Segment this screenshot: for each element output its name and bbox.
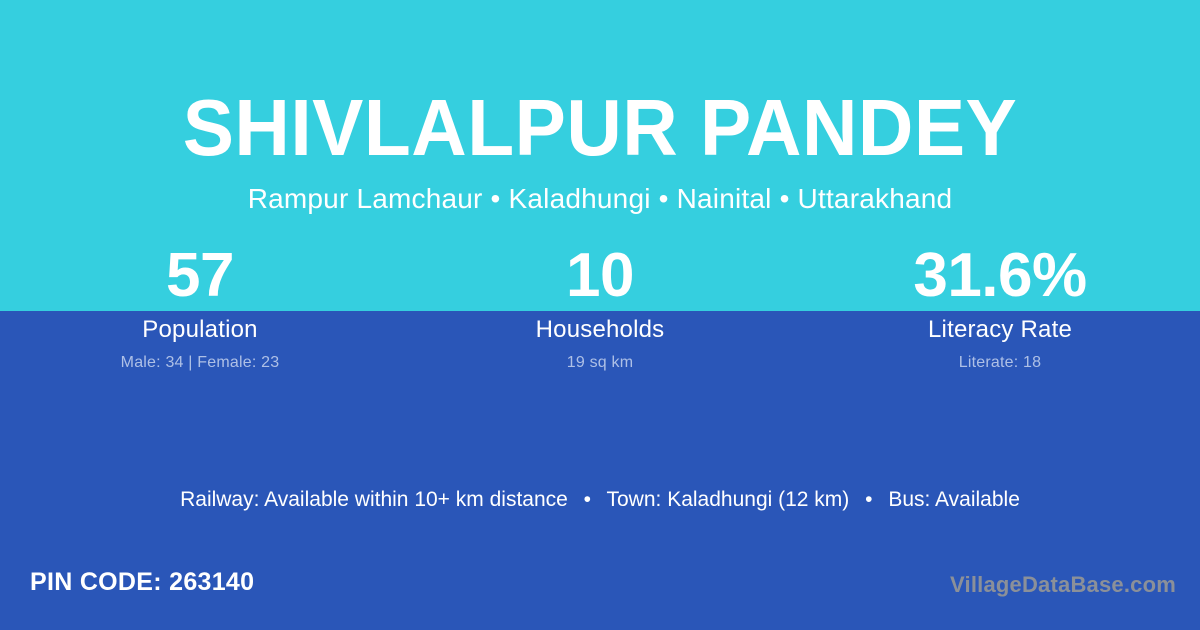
stat-label-literacy-rate: Literacy Rate <box>800 315 1200 345</box>
facility-railway: Railway: Available within 10+ km distanc… <box>180 488 568 511</box>
stat-label-population: Population <box>0 315 400 345</box>
village-info-card: SHIVLALPUR PANDEY Rampur Lamchaur • Kala… <box>0 0 1200 630</box>
stat-value-literacy-rate: 31.6% <box>800 240 1200 311</box>
stat-literacy-rate: 31.6% Literacy Rate Literate: 18 <box>800 240 1200 373</box>
facility-separator-2: • <box>855 484 882 516</box>
facility-separator-1: • <box>574 484 601 516</box>
page-title: SHIVLALPUR PANDEY <box>24 88 1176 168</box>
stat-label-households: Households <box>400 315 800 345</box>
stat-value-households: 10 <box>400 240 800 311</box>
stat-sub-households: 19 sq km <box>400 353 800 373</box>
breadcrumb: Rampur Lamchaur • Kaladhungi • Nainital … <box>0 182 1200 216</box>
site-watermark: VillageDataBase.com <box>950 570 1176 600</box>
stat-population: 57 Population Male: 34 | Female: 23 <box>0 240 400 373</box>
card-footer: PIN CODE: 263140 VillageDataBase.com <box>0 552 1200 630</box>
stat-sub-literacy-rate: Literate: 18 <box>800 353 1200 373</box>
stat-value-population: 57 <box>0 240 400 311</box>
facility-bus: Bus: Available <box>888 488 1020 511</box>
facility-town: Town: Kaladhungi (12 km) <box>607 488 850 511</box>
pin-code: PIN CODE: 263140 <box>30 566 254 598</box>
stat-households: 10 Households 19 sq km <box>400 240 800 373</box>
facilities-row: Railway: Available within 10+ km distanc… <box>0 484 1200 516</box>
stat-sub-population: Male: 34 | Female: 23 <box>0 353 400 373</box>
stats-row: 57 Population Male: 34 | Female: 23 10 H… <box>0 240 1200 373</box>
